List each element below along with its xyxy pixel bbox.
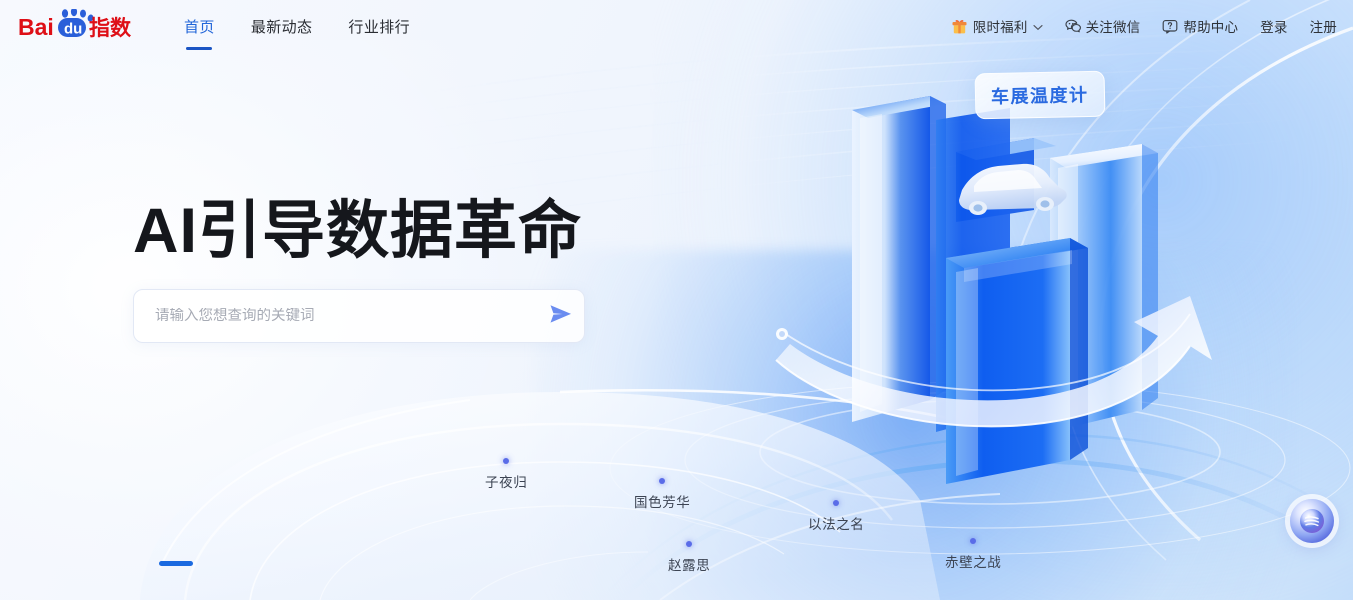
float-badge-auto-show-thermometer[interactable]: 车展温度计	[975, 71, 1105, 120]
nav-item-latest[interactable]: 最新动态	[251, 0, 313, 52]
ribbon-node	[776, 328, 788, 340]
nav-item-follow-wechat[interactable]: 关注微信	[1065, 16, 1141, 36]
svg-text:指数: 指数	[89, 17, 132, 40]
search-submit-button[interactable]	[538, 290, 584, 342]
nav-item-label: 帮助中心	[1183, 16, 1238, 36]
gift-icon	[951, 18, 968, 35]
ai-sphere-icon	[1299, 508, 1325, 534]
svg-text:du: du	[64, 21, 82, 38]
page-title: AI引导数据革命	[133, 198, 585, 265]
carousel-indicator-dot-0[interactable]	[159, 561, 193, 566]
nav-item-home[interactable]: 首页	[184, 0, 215, 52]
keyword-hotspot-4[interactable]: 赤壁之战	[945, 538, 1001, 571]
keyword-dot-icon	[503, 458, 509, 464]
svg-text:Bai: Bai	[18, 14, 54, 40]
bar-3	[946, 238, 1088, 484]
nav-item-label: 最新动态	[251, 16, 313, 37]
carousel-indicator[interactable]	[159, 561, 193, 566]
logo-icon: Bai du 指数	[18, 9, 138, 43]
keyword-label: 赤壁之战	[945, 551, 1001, 571]
ai-assistant-ball[interactable]	[1290, 499, 1334, 543]
send-arrow-icon	[548, 303, 574, 328]
keyword-dot-icon	[659, 478, 665, 484]
keyword-hotspot-0[interactable]: 子夜归	[485, 458, 527, 491]
nav-item-label: 首页	[184, 16, 215, 37]
baidu-index-logo[interactable]: Bai du 指数	[18, 9, 138, 43]
keyword-dot-icon	[970, 538, 976, 544]
keyword-label: 赵露思	[668, 554, 710, 574]
page-root: Bai du 指数 首页 最新动态 行业排行	[0, 0, 1353, 600]
main-navigation: 首页 最新动态 行业排行	[184, 0, 446, 52]
nav-item-limited-benefits[interactable]: 限时福利	[951, 16, 1043, 36]
login-button[interactable]: 登录	[1260, 16, 1287, 36]
site-header: Bai du 指数 首页 最新动态 行业排行	[0, 0, 1353, 52]
keyword-label: 子夜归	[485, 471, 527, 491]
wechat-icon	[1065, 19, 1081, 34]
nav-item-label: 限时福利	[973, 16, 1028, 36]
login-label: 登录	[1260, 16, 1287, 36]
chevron-down-icon	[1033, 19, 1043, 34]
nav-item-help-center[interactable]: 帮助中心	[1162, 16, 1238, 36]
keyword-label: 国色芳华	[634, 491, 690, 511]
hero-illustration	[760, 60, 1320, 560]
search-bar[interactable]	[133, 289, 585, 343]
keyword-hotspot-2[interactable]: 以法之名	[808, 500, 864, 533]
keyword-dot-icon	[833, 500, 839, 506]
register-label: 注册	[1310, 16, 1337, 36]
keyword-label: 以法之名	[808, 513, 864, 533]
bar-1	[852, 96, 946, 422]
header-right-navigation: 限时福利 关注微信	[929, 16, 1337, 36]
keyword-hotspot-1[interactable]: 国色芳华	[634, 478, 690, 511]
badge-label: 车展温度计	[991, 85, 1089, 107]
nav-item-label: 关注微信	[1086, 16, 1141, 36]
keyword-hotspot-3[interactable]: 赵露思	[668, 541, 710, 574]
keyword-dot-icon	[686, 541, 692, 547]
search-input[interactable]	[134, 308, 538, 324]
hero-section: AI引导数据革命	[133, 198, 585, 343]
help-circle-icon	[1162, 19, 1178, 34]
register-button[interactable]: 注册	[1310, 16, 1337, 36]
nav-item-label: 行业排行	[348, 16, 410, 37]
nav-item-industry-ranking[interactable]: 行业排行	[348, 0, 410, 52]
